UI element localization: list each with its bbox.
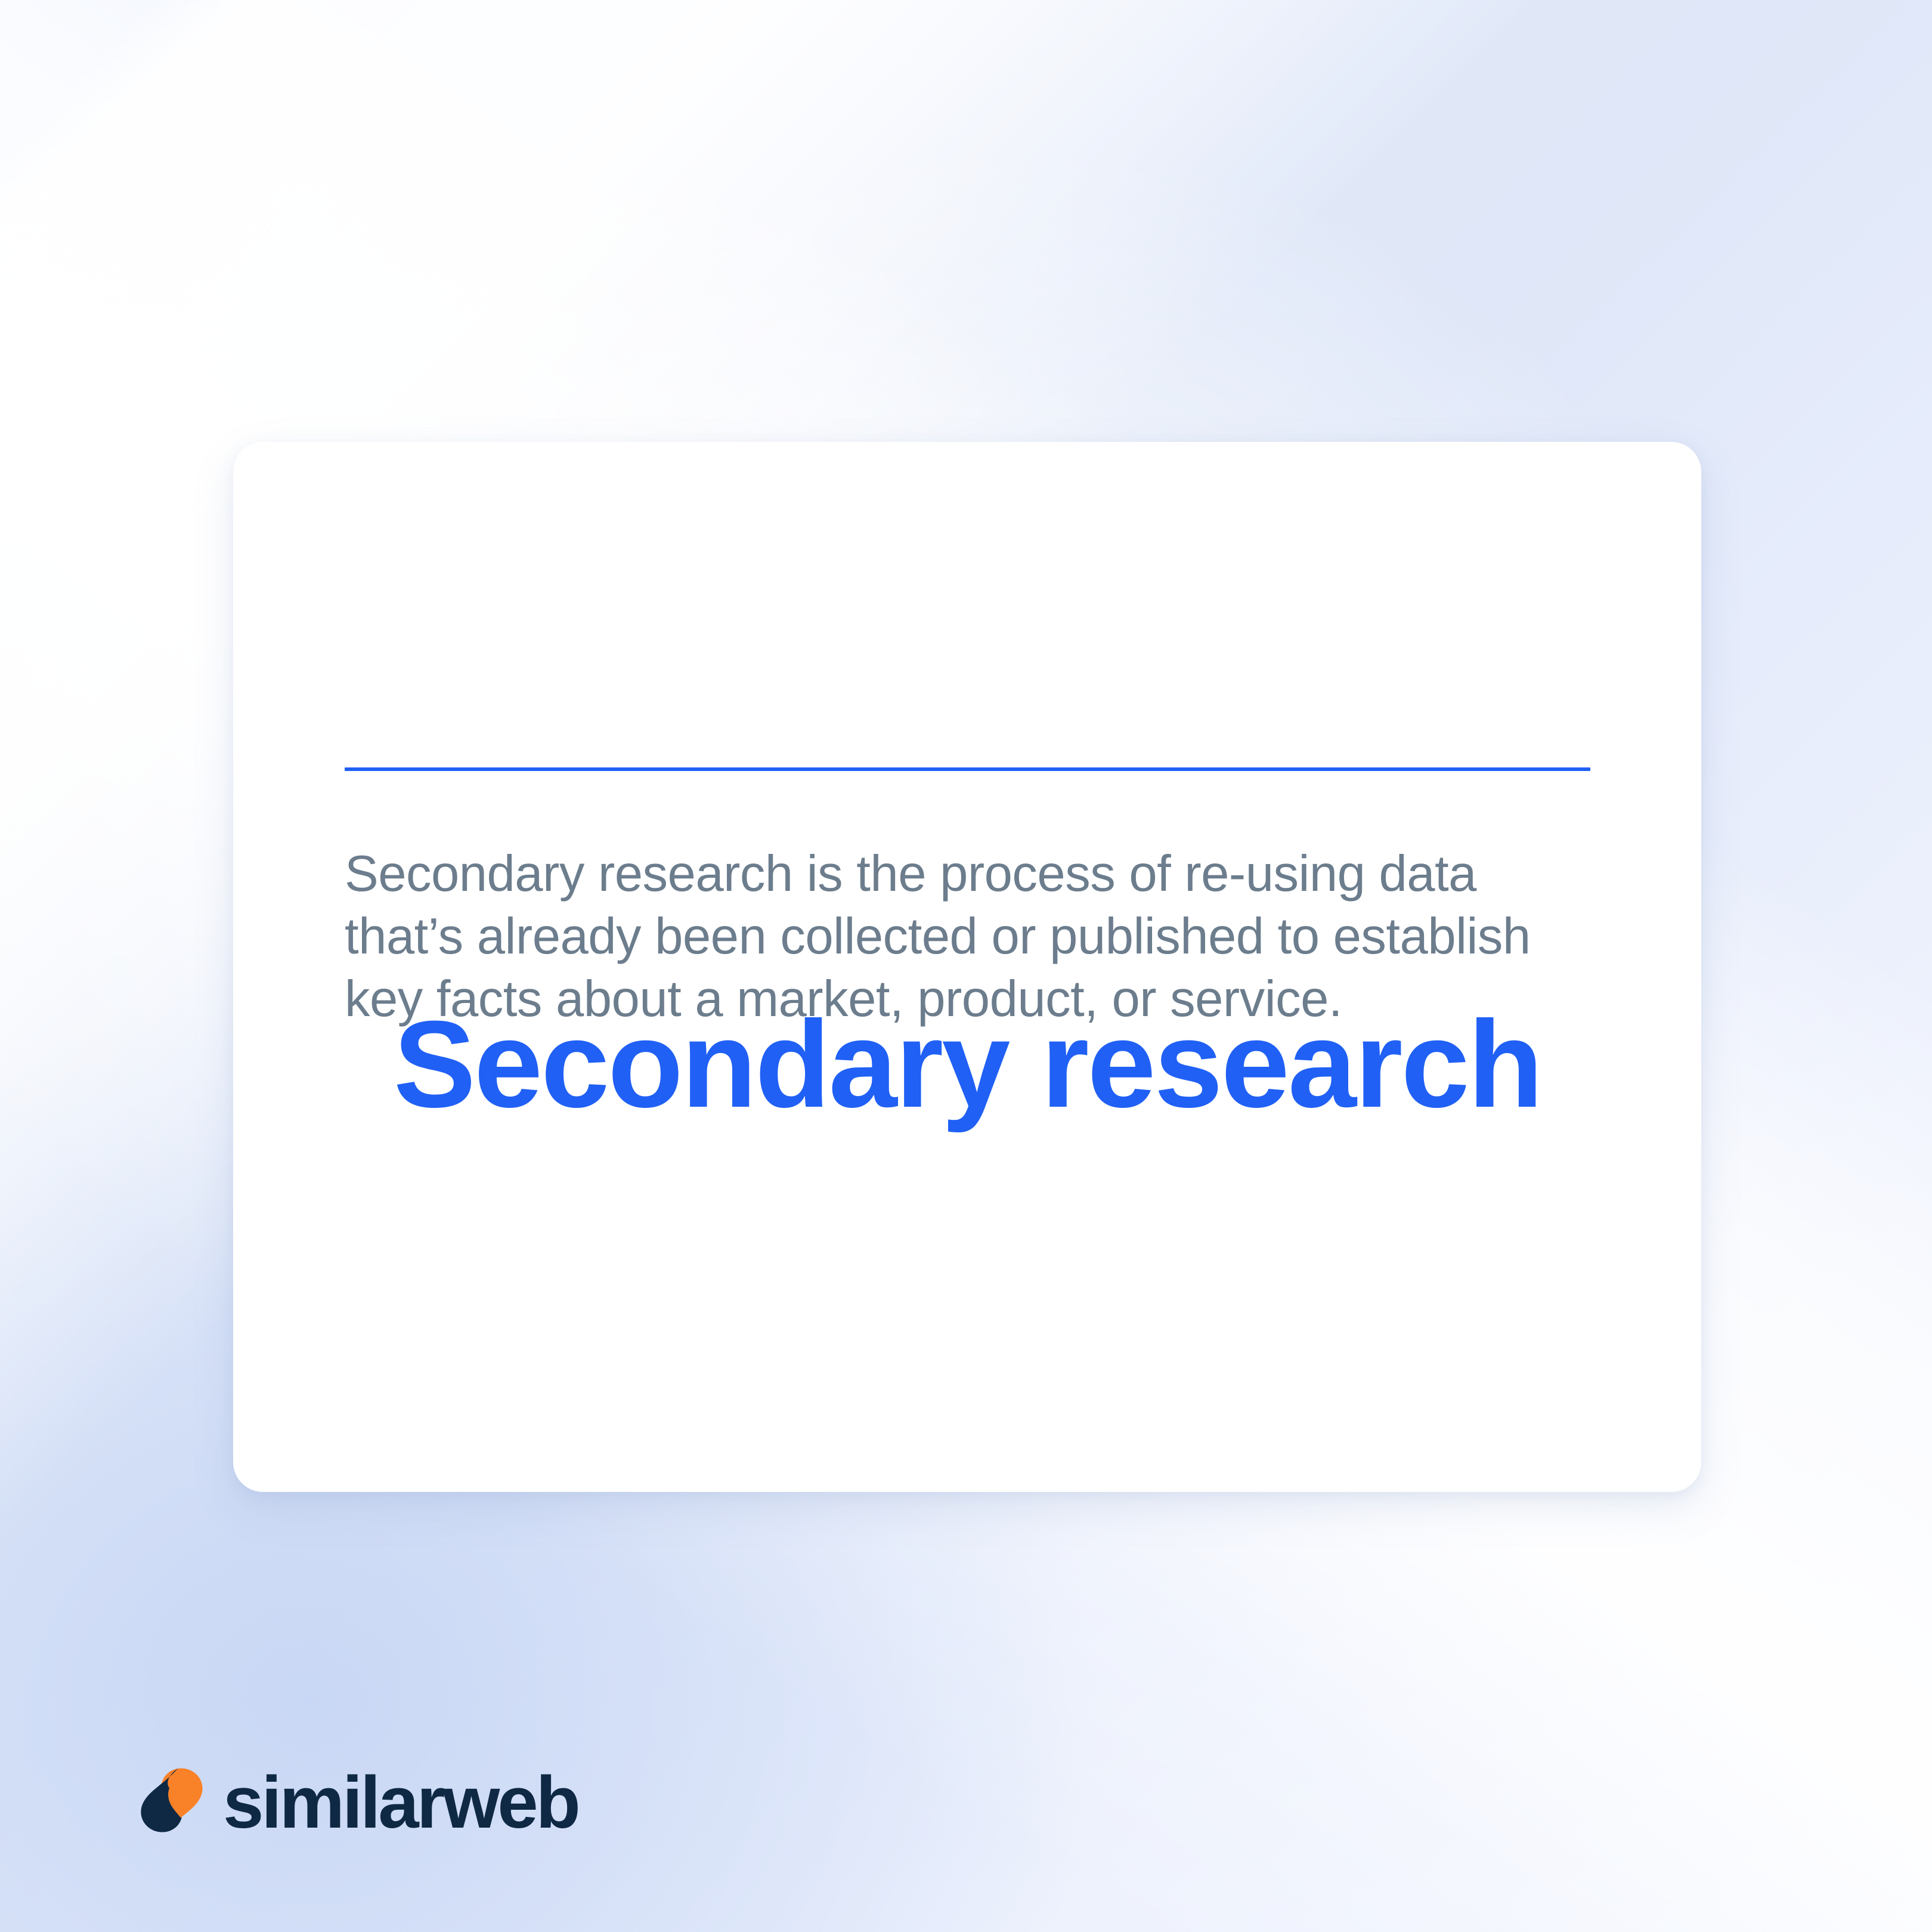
title-divider [345, 767, 1590, 771]
similarweb-wordmark: similarweb [223, 1766, 578, 1840]
card-body-text: Secondary research is the process of re-… [345, 843, 1531, 1030]
similarweb-logo-mark [141, 1767, 203, 1834]
similarweb-logo[interactable]: similarweb [141, 1761, 578, 1839]
slide-canvas: Secondary research Secondary research is… [0, 0, 1932, 1932]
definition-card: Secondary research Secondary research is… [233, 442, 1701, 1492]
